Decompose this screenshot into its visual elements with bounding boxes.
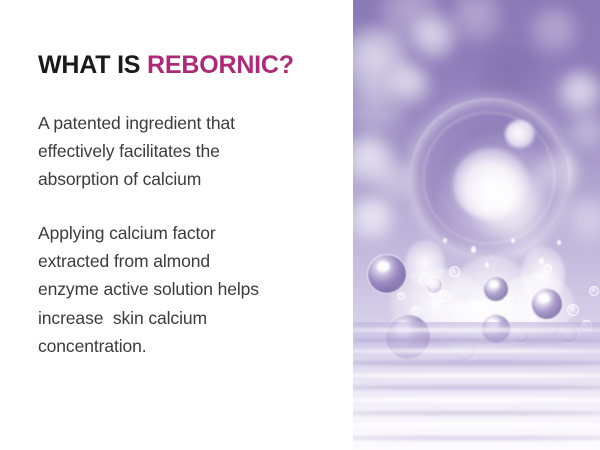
body-paragraph-1-line: absorption of calcium — [38, 165, 337, 193]
body-paragraph-2-line: increase skin calcium — [38, 304, 337, 332]
bokeh-circle — [529, 6, 579, 56]
bokeh-circle — [567, 112, 600, 152]
bokeh-circle — [387, 62, 431, 106]
bubble-highlight — [539, 294, 550, 303]
water-droplet — [485, 262, 489, 268]
water-droplet — [471, 246, 476, 253]
text-panel: WHAT IS REBORNIC? A patented ingredient … — [0, 0, 353, 450]
water-ripple — [353, 373, 600, 378]
splash-bubble — [503, 296, 513, 306]
splash-bubble — [543, 264, 552, 273]
splash-bubble — [411, 306, 420, 315]
splash-bubble — [567, 304, 579, 316]
splash-bubble — [589, 286, 599, 296]
body-paragraph-2-line: extracted from almond — [38, 247, 337, 275]
splash-bubble — [419, 272, 432, 285]
splash-bubble — [531, 288, 563, 320]
body-paragraph-2: Applying calcium factor extracted from a… — [38, 219, 337, 361]
water-ripple — [353, 397, 600, 403]
water-ripple — [353, 436, 600, 440]
water-ripple — [353, 338, 600, 343]
water-ripple — [353, 422, 600, 428]
splash-bubble — [439, 290, 451, 302]
body-paragraph-1-line: effectively facilitates the — [38, 137, 337, 165]
water-droplet — [443, 238, 447, 243]
bubble-highlight — [490, 281, 499, 288]
body-paragraph-2-line: Applying calcium factor — [38, 219, 337, 247]
water-droplet — [557, 240, 561, 245]
body-paragraph-1-line: A patented ingredient that — [38, 109, 337, 137]
splash-bubble — [471, 300, 480, 309]
page-title: WHAT IS REBORNIC? — [38, 52, 337, 80]
page-title-brand: REBORNIC? — [147, 51, 294, 79]
water-droplet — [511, 238, 515, 243]
splash-bubble — [449, 266, 460, 277]
bubble-highlight — [377, 261, 390, 272]
splash-bubble — [397, 292, 405, 300]
bubbles-water-image — [353, 0, 600, 450]
splash-bubble — [367, 254, 407, 294]
water-ripple — [353, 328, 600, 332]
body-paragraph-2-line: enzyme active solution helps — [38, 275, 337, 303]
large-bubble-specular-highlight — [505, 120, 535, 148]
slide-root: WHAT IS REBORNIC? A patented ingredient … — [0, 0, 600, 450]
water-droplet — [539, 258, 544, 264]
water-ripple — [353, 411, 600, 415]
bokeh-circle — [373, 160, 415, 202]
water-ripple — [353, 385, 600, 390]
bokeh-circle — [557, 70, 600, 116]
water-ripple — [353, 349, 600, 353]
water-surface — [353, 322, 600, 450]
page-title-prefix: WHAT IS — [38, 51, 147, 79]
body-paragraph-1: A patented ingredient that effectively f… — [38, 109, 337, 194]
water-ripple — [353, 360, 600, 366]
large-bubble-core-highlight — [453, 148, 529, 220]
body-paragraph-2-line: concentration. — [38, 332, 337, 360]
